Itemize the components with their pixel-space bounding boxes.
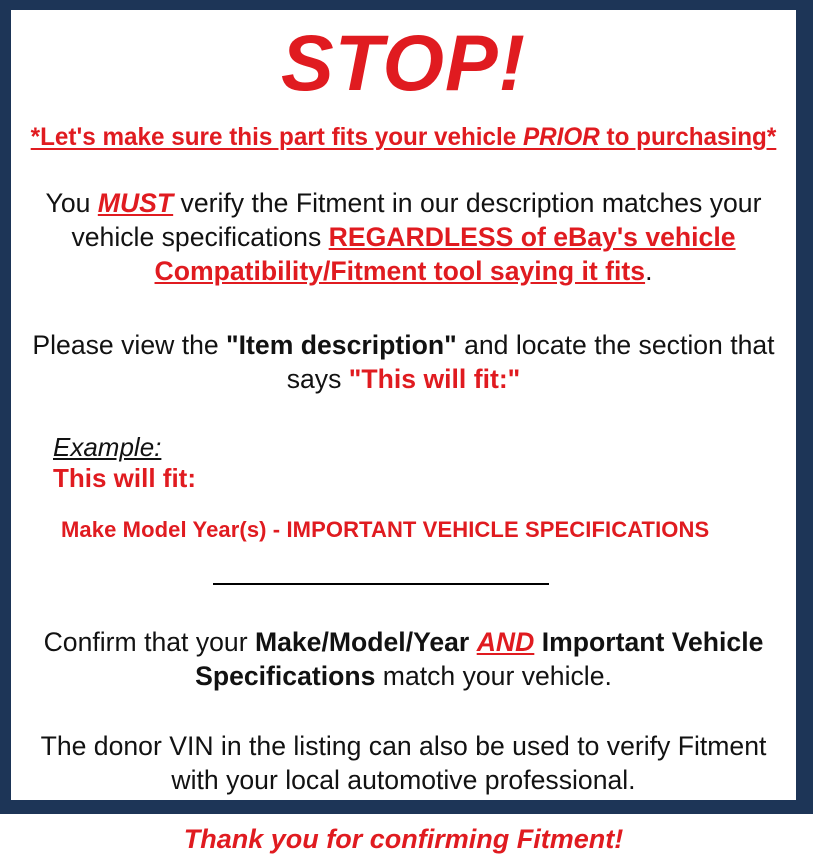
divider-container [17, 543, 790, 590]
page-title: STOP! [17, 10, 790, 110]
example-fit-heading: This will fit: [53, 462, 790, 494]
example-specification-line: Make Model Year(s) - IMPORTANT VEHICLE S… [53, 494, 790, 543]
item-description-quote: "Item description" [226, 330, 457, 360]
view-paragraph-part1: Please view the [32, 330, 226, 360]
this-will-fit-quote: "This will fit:" [349, 364, 520, 394]
must-emphasis: MUST [98, 188, 173, 218]
fitment-warning-poster: STOP! *Let's make sure this part fits yo… [0, 0, 813, 814]
subtitle-emphasis-prior: PRIOR [523, 123, 600, 151]
make-model-year-emphasis: Make/Model/Year [255, 627, 469, 657]
subtitle-banner: *Let's make sure this part fits your veh… [29, 110, 779, 152]
confirm-paragraph: Confirm that your Make/Model/Year AND Im… [23, 590, 784, 693]
must-verify-paragraph: You MUST verify the Fitment in our descr… [23, 152, 784, 288]
example-label: Example: [53, 432, 161, 462]
confirm-space-2 [534, 627, 541, 657]
must-paragraph-part1: You [46, 188, 98, 218]
subtitle-suffix: to purchasing* [600, 123, 777, 151]
must-paragraph-period: . [645, 256, 652, 286]
example-label-row: Example: [53, 432, 790, 462]
example-block: Example: This will fit: Make Model Year(… [17, 396, 790, 543]
and-emphasis: AND [477, 627, 535, 657]
thank-you-message: Thank you for confirming Fitment! [17, 797, 790, 856]
subtitle-prefix: *Let's make sure this part fits your veh… [31, 123, 523, 151]
view-description-paragraph: Please view the "Item description" and l… [23, 288, 784, 396]
poster-inner-sheet: STOP! *Let's make sure this part fits yo… [11, 10, 796, 800]
horizontal-rule-icon [213, 583, 549, 585]
confirm-part1: Confirm that your [44, 627, 255, 657]
confirm-part2: match your vehicle. [375, 661, 612, 691]
vin-paragraph: The donor VIN in the listing can also be… [23, 693, 784, 797]
confirm-space-1 [469, 627, 476, 657]
